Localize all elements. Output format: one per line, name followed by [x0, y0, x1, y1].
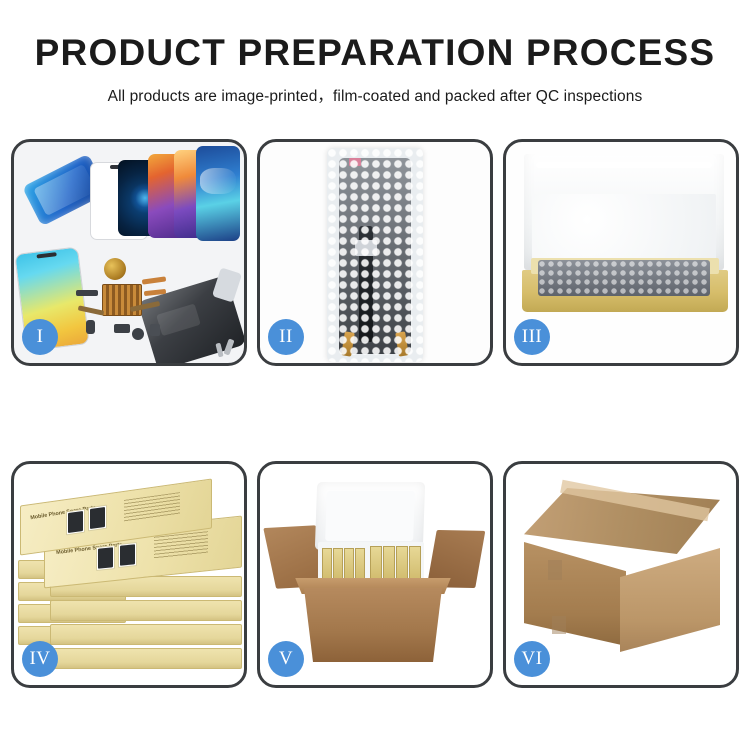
bubble-wrap-texture [327, 148, 423, 362]
process-step-3: III [503, 139, 739, 366]
step-badge-5: V [268, 641, 304, 677]
process-step-grid: I II III [11, 139, 739, 688]
flex-cable-1 [142, 276, 166, 284]
part-button-icon [132, 328, 144, 340]
stacked-box-r4 [50, 648, 242, 669]
process-step-5: V [257, 461, 493, 688]
foam-lid [315, 482, 425, 550]
part-strip-3 [114, 324, 130, 333]
chip-grid-icon [102, 284, 142, 316]
bubble-wrapped-screen-icon [327, 148, 423, 362]
tool-tweezers-icon [212, 267, 242, 302]
sealed-carton-front [524, 542, 626, 646]
process-step-4: Mobile Phone Spare Parts Mobile Phone Sp… [11, 461, 247, 688]
carton-body [298, 588, 448, 662]
packing-tape-lower [552, 616, 566, 634]
step-badge-2: II [268, 319, 304, 355]
part-strip-1 [76, 290, 98, 296]
stacked-box-r3 [50, 624, 242, 645]
process-step-1: I [11, 139, 247, 366]
box-screen-thumb-2b [118, 542, 137, 568]
box-screen-thumb-2a [96, 545, 115, 571]
part-vibrator-icon [150, 324, 160, 336]
step-badge-4: IV [22, 641, 58, 677]
step-badge-6: VI [514, 641, 550, 677]
packing-tape-upper [548, 560, 562, 580]
stacked-box-r2 [50, 600, 242, 621]
step-badge-1: I [22, 319, 58, 355]
box-screen-thumb-1b [88, 505, 107, 532]
process-step-2: II [257, 139, 493, 366]
bubble-wrapped-contents [538, 260, 710, 296]
page-header: PRODUCT PREPARATION PROCESS All products… [0, 0, 750, 106]
phone-gradient-c-icon [196, 146, 240, 241]
process-step-6: VI [503, 461, 739, 688]
speaker-coil-icon [104, 258, 126, 280]
box-screen-thumb-1a [66, 509, 85, 536]
part-strip-2 [86, 320, 95, 334]
page-title: PRODUCT PREPARATION PROCESS [0, 34, 750, 71]
page-subtitle: All products are image-printed，film-coat… [0, 84, 750, 106]
sealed-carton-side [620, 548, 720, 652]
step-badge-3: III [514, 319, 550, 355]
